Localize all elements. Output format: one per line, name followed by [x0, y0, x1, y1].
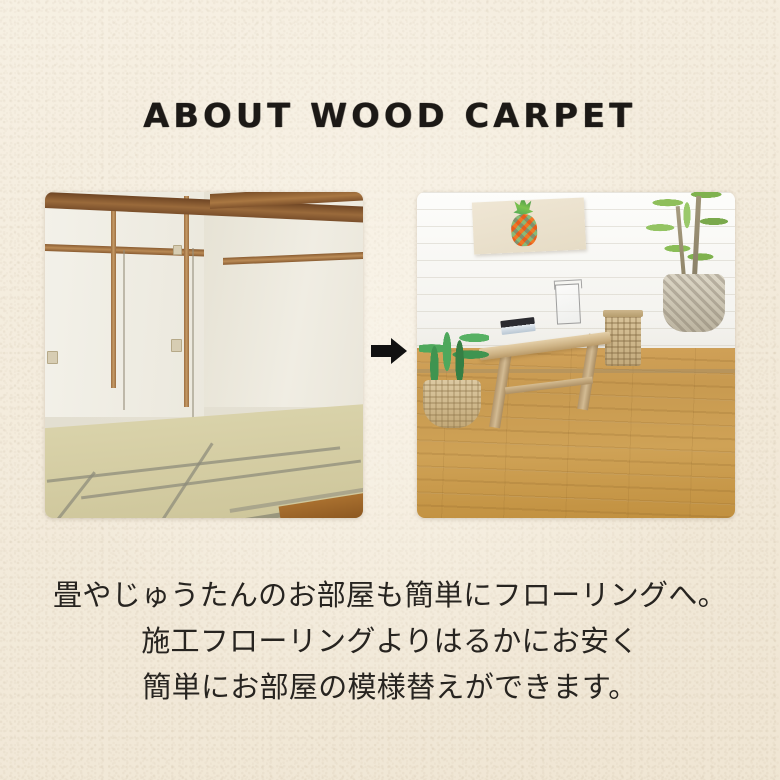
caption-line-1: 畳やじゅうたんのお部屋も簡単にフローリングへ。 — [0, 572, 780, 618]
woven-storage-basket-rim — [603, 310, 643, 317]
caption-line-3: 簡単にお部屋の模様替えができます。 — [0, 664, 780, 710]
woven-planter-left — [423, 380, 481, 428]
before-photo[interactable] — [45, 192, 363, 518]
pineapple-artwork — [472, 197, 586, 254]
before-photo-illustration — [45, 192, 363, 518]
tatami-seam — [81, 459, 361, 499]
arrow-right-icon — [371, 338, 407, 364]
fusuma-seam-right — [192, 248, 194, 420]
tatami-room-right-wall — [204, 192, 363, 407]
glass-lantern — [555, 283, 581, 324]
woven-planter-right — [663, 274, 725, 332]
fusuma-seam-left — [123, 250, 125, 410]
fusuma-handle-upper — [173, 245, 182, 255]
fusuma-frame-left — [111, 198, 116, 388]
after-photo-illustration — [417, 192, 735, 518]
fusuma-handle-middle — [171, 339, 182, 352]
fusuma-handle-left — [47, 351, 58, 364]
pineapple-body-icon — [510, 214, 537, 247]
promo-banner: ABOUT WOOD CARPET — [0, 0, 780, 780]
fusuma-frame-right — [184, 196, 189, 407]
after-photo[interactable] — [417, 192, 735, 518]
caption-block: 畳やじゅうたんのお部屋も簡単にフローリングへ。 施工フローリングよりはるかにお安… — [0, 572, 780, 710]
page-title: ABOUT WOOD CARPET — [0, 96, 780, 136]
caption-line-2: 施工フローリングよりはるかにお安く — [0, 618, 780, 664]
spider-plant-foliage — [419, 312, 489, 388]
page-title-text: ABOUT WOOD CARPET — [143, 96, 636, 136]
